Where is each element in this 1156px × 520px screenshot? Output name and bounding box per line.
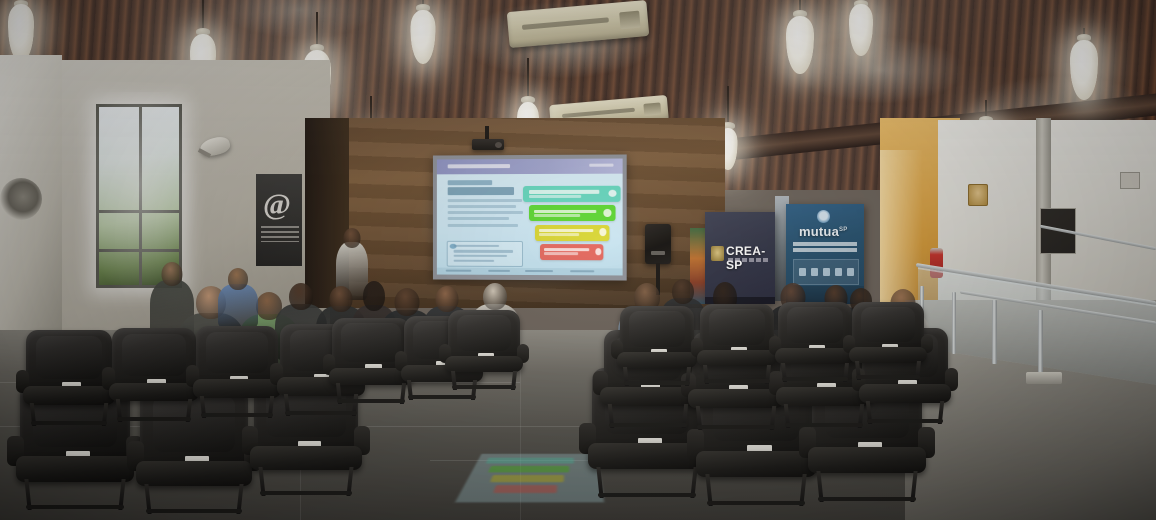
auditorium-chair xyxy=(620,306,694,386)
auditorium-chair xyxy=(448,310,520,390)
chair-backrest xyxy=(620,306,694,356)
auditorium-chair xyxy=(778,302,852,382)
chair-seat xyxy=(136,461,253,486)
auditorium-chair xyxy=(700,304,774,384)
chair-legs xyxy=(144,484,243,514)
auditorium-chair xyxy=(26,330,112,426)
chair-legs xyxy=(451,371,517,390)
chair-legs xyxy=(623,367,691,386)
chair-legs xyxy=(199,396,274,418)
chair-group xyxy=(0,0,1156,520)
chair-seat xyxy=(16,456,135,482)
chair-seat xyxy=(808,447,927,473)
chair-backrest xyxy=(112,328,196,386)
chair-backrest xyxy=(852,302,924,350)
chair-legs xyxy=(335,383,407,404)
chair-backrest xyxy=(196,326,278,383)
chair-legs xyxy=(784,404,865,428)
chair-backrest xyxy=(26,330,112,390)
auditorium-photo: @ xyxy=(0,0,1156,520)
chair-seat xyxy=(696,451,817,477)
auditorium-chair xyxy=(852,302,924,380)
chair-legs xyxy=(115,399,192,422)
chair-legs xyxy=(696,406,777,430)
chair-backrest xyxy=(700,304,774,354)
chair-legs xyxy=(608,404,689,428)
chair-legs xyxy=(781,363,849,382)
chair-backrest xyxy=(778,302,852,352)
chair-seat xyxy=(250,446,362,470)
chair-legs xyxy=(816,471,917,502)
chair-backrest xyxy=(448,310,520,360)
chair-legs xyxy=(596,467,697,498)
chair-legs xyxy=(258,467,354,496)
chair-legs xyxy=(865,401,944,424)
chair-legs xyxy=(704,474,807,506)
chair-legs xyxy=(855,361,921,380)
chair-legs xyxy=(24,479,125,510)
chair-legs xyxy=(29,403,108,426)
auditorium-chair xyxy=(112,328,196,422)
auditorium-chair xyxy=(196,326,278,418)
chair-legs xyxy=(703,365,771,384)
